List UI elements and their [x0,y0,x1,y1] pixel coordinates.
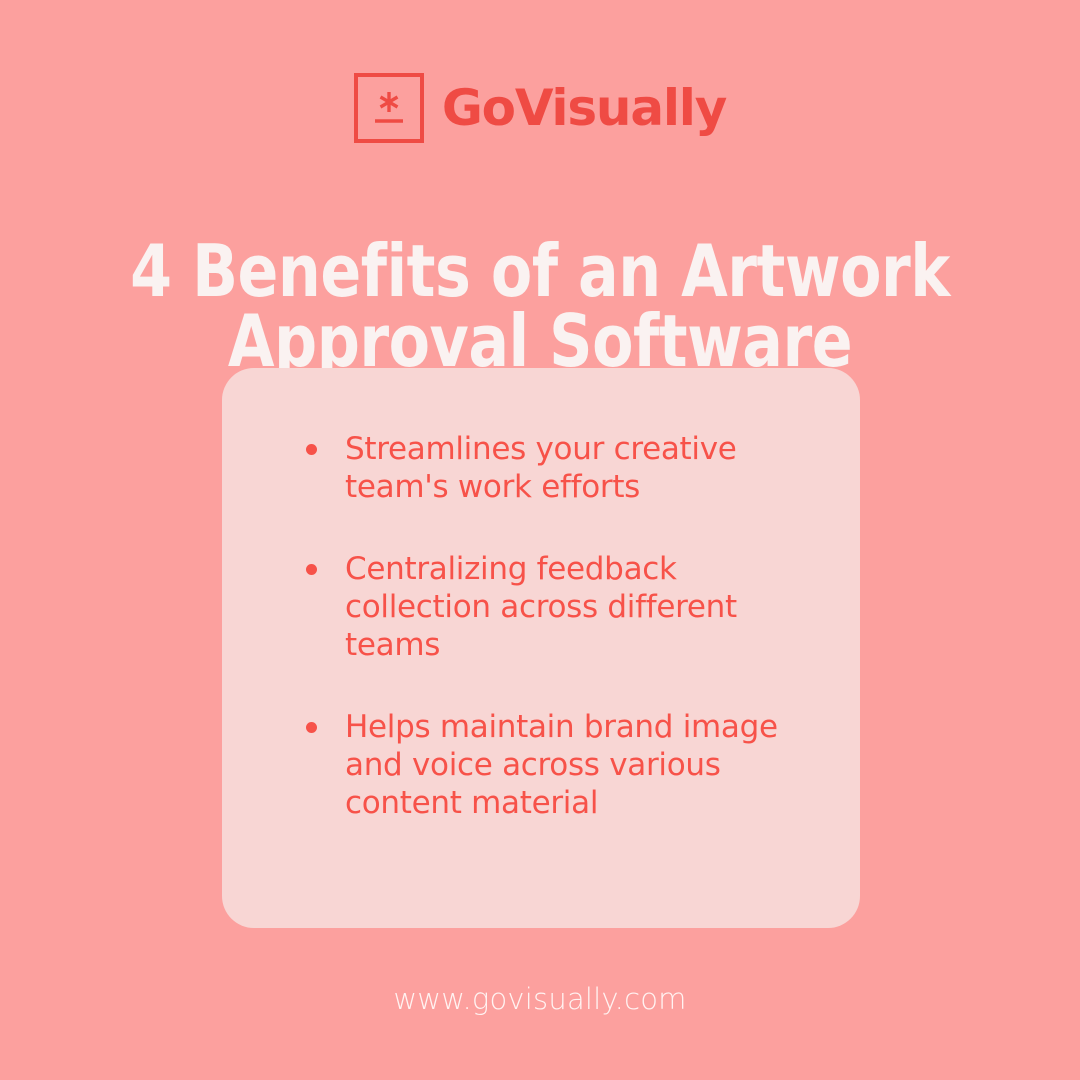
govisually-logo-mark [354,73,424,143]
bullet-dot-icon [306,444,317,455]
list-item: Helps maintain brand image and voice acr… [306,708,804,822]
list-item-label: Helps maintain brand image and voice acr… [345,709,778,821]
benefits-list: Streamlines your creative team's work ef… [306,430,804,822]
list-item: Centralizing feedback collection across … [306,550,804,664]
bullet-dot-icon [306,722,317,733]
page-title-line-2: Approval Software [38,306,1042,376]
list-item-label: Centralizing feedback collection across … [345,551,737,663]
bullet-dot-icon [306,564,317,575]
benefits-card: Streamlines your creative team's work ef… [222,368,860,928]
asterisk-underline-square-icon [367,86,411,130]
list-item: Streamlines your creative team's work ef… [306,430,804,506]
list-item-label: Streamlines your creative team's work ef… [345,431,737,505]
brand-lockup: GoVisually [0,70,1080,146]
brand-name: GoVisually [442,83,726,133]
footer-website-url: www.govisually.com [0,982,1080,1016]
page-title-line-1: 4 Benefits of an Artwork [38,236,1042,306]
page-title: 4 Benefits of an Artwork Approval Softwa… [38,236,1042,376]
social-post-canvas: GoVisually 4 Benefits of an Artwork Appr… [0,0,1080,1080]
